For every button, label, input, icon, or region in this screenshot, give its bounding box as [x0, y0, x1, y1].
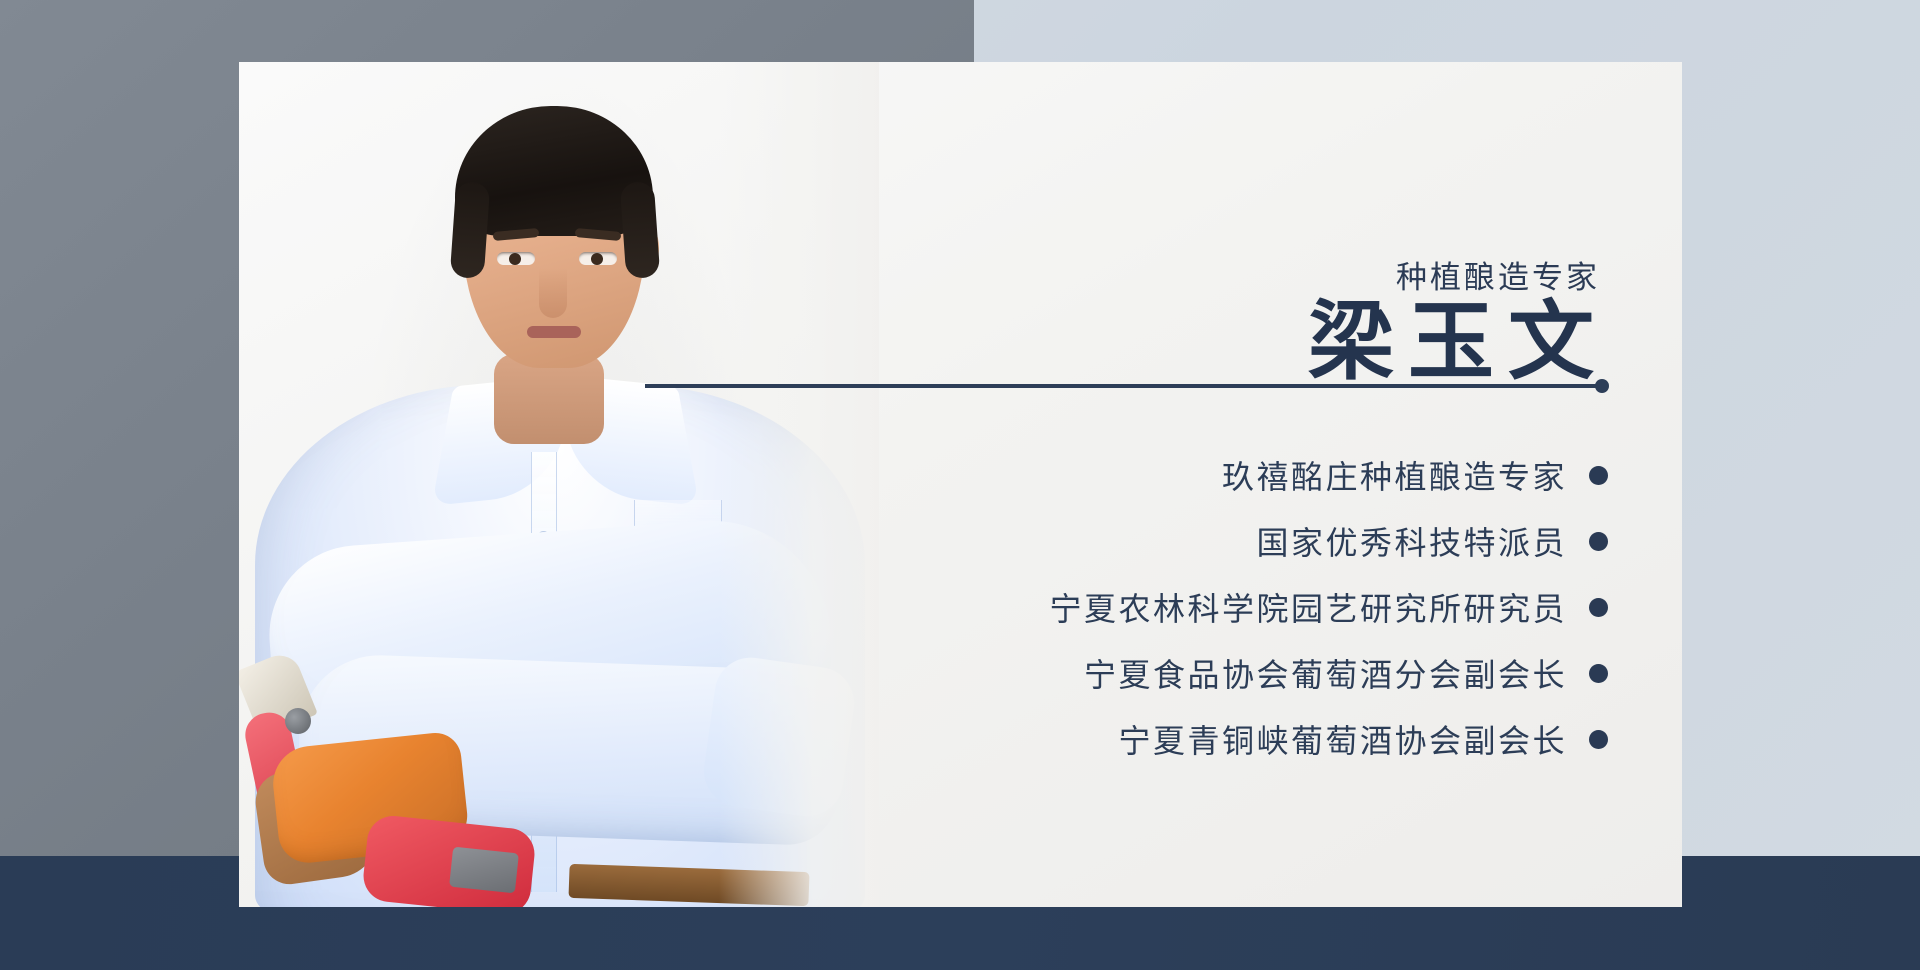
eye-right — [579, 252, 617, 265]
hair-side-right — [620, 181, 661, 279]
nose — [539, 268, 567, 318]
credential-label: 宁夏农林科学院园艺研究所研究员 — [1049, 584, 1567, 630]
bullet-dot-icon — [1589, 466, 1608, 485]
list-item: 宁夏食品协会葡萄酒分会副会长 — [708, 640, 1608, 706]
eye-left — [497, 252, 535, 265]
expert-profile-banner: 种植酿造专家 梁玉文 玖禧酩庄种植酿造专家 国家优秀科技特派员 宁夏农林科学院园… — [0, 0, 1920, 970]
list-item: 宁夏青铜峡葡萄酒协会副会长 — [708, 706, 1608, 772]
credential-label: 宁夏青铜峡葡萄酒协会副会长 — [1118, 716, 1567, 762]
credential-label: 国家优秀科技特派员 — [1256, 518, 1567, 564]
credential-list: 玖禧酩庄种植酿造专家 国家优秀科技特派员 宁夏农林科学院园艺研究所研究员 宁夏食… — [708, 442, 1608, 772]
profile-card: 种植酿造专家 梁玉文 玖禧酩庄种植酿造专家 国家优秀科技特派员 宁夏农林科学院园… — [239, 62, 1682, 907]
bullet-dot-icon — [1589, 598, 1608, 617]
pruning-shears-label — [449, 847, 519, 894]
bullet-dot-icon — [1589, 532, 1608, 551]
list-item: 宁夏农林科学院园艺研究所研究员 — [708, 574, 1608, 640]
hair-side-left — [450, 181, 491, 279]
credential-label: 玖禧酩庄种植酿造专家 — [1222, 452, 1567, 498]
bullet-dot-icon — [1589, 664, 1608, 683]
mouth — [527, 326, 581, 338]
pruning-shears-pivot-bolt — [285, 708, 311, 734]
credential-label: 宁夏食品协会葡萄酒分会副会长 — [1084, 650, 1567, 696]
person-name: 梁玉文 — [1308, 297, 1608, 387]
role-title: 种植酿造专家 — [1396, 252, 1600, 297]
bullet-dot-icon — [1589, 730, 1608, 749]
divider-end-dot-icon — [1595, 379, 1609, 393]
list-item: 国家优秀科技特派员 — [708, 508, 1608, 574]
divider-rule — [645, 384, 1600, 388]
list-item: 玖禧酩庄种植酿造专家 — [708, 442, 1608, 508]
